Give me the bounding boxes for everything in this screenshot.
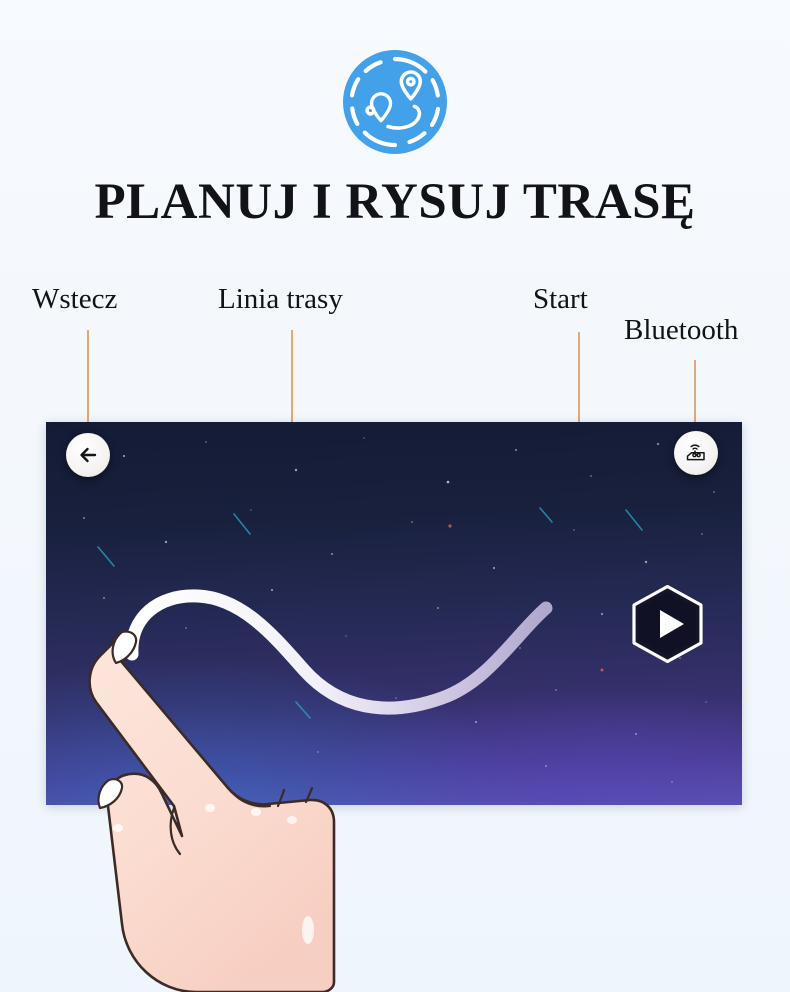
page-title: PLANUJ I RYSUJ TRASĘ xyxy=(0,173,790,231)
callout-label-start: Start xyxy=(533,283,588,316)
bluetooth-button[interactable] xyxy=(674,431,718,475)
callout-label-bluetooth: Bluetooth xyxy=(624,314,738,347)
page-root: PLANUJ I RYSUJ TRASĘ Wstecz Linia trasy … xyxy=(0,0,790,992)
route-planner-logo-icon xyxy=(341,48,449,156)
callout-label-back: Wstecz xyxy=(32,283,117,316)
pointing-hand-illustration xyxy=(78,610,396,992)
start-button[interactable] xyxy=(632,585,703,663)
bluetooth-device-icon xyxy=(683,440,709,466)
back-button[interactable] xyxy=(66,433,110,477)
logo-container xyxy=(0,48,790,156)
callout-label-routeline: Linia trasy xyxy=(218,283,343,316)
arrow-left-icon xyxy=(76,443,100,467)
